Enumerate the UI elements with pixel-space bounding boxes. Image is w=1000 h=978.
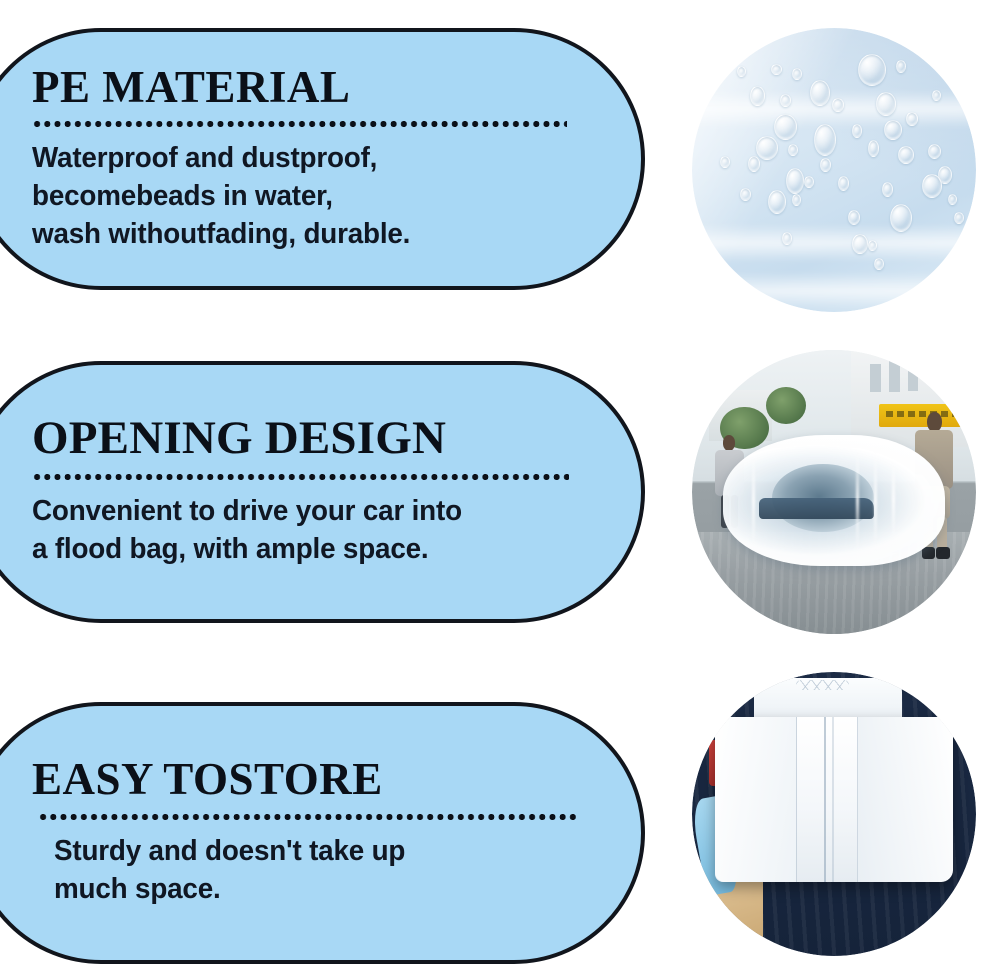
body-line: Convenient to drive your car into [32, 493, 540, 531]
body-line: a flood bag, with ample space. [32, 531, 540, 569]
fabric-surface [692, 28, 976, 312]
infographic-stage: PE MATERIAL Waterproof and dustproof, be… [0, 0, 1000, 978]
page-title: OPENING DESIGN [32, 415, 561, 463]
feature-panel-opening-design: OPENING DESIGN Convenient to drive your … [0, 361, 645, 623]
panel-body-text: Sturdy and doesn't take up much space. [54, 833, 512, 908]
panel-body-text: Convenient to drive your car into a floo… [32, 493, 540, 568]
page-title: PE MATERIAL [32, 65, 531, 111]
panel-content: EASY TOSTORE Sturdy and doesn't take up … [32, 706, 601, 960]
body-line: wash withoutfading, durable. [32, 216, 511, 254]
flood-bag [723, 435, 945, 566]
dotted-divider [32, 474, 569, 480]
dotted-divider [32, 121, 567, 127]
panel-content: OPENING DESIGN Convenient to drive your … [32, 365, 601, 619]
feature-panel-pe-material: PE MATERIAL Waterproof and dustproof, be… [0, 28, 645, 290]
body-line: becomebeads in water, [32, 178, 511, 216]
body-line: Waterproof and dustproof, [32, 140, 511, 178]
feature-panel-easy-to-store: EASY TOSTORE Sturdy and doesn't take up … [0, 702, 645, 964]
dotted-divider [38, 814, 578, 820]
body-line: Sturdy and doesn't take up [54, 833, 512, 871]
people-opening-flood-bag-photo [692, 350, 976, 634]
car-trunk-scene [692, 672, 976, 956]
panel-content: PE MATERIAL Waterproof and dustproof, be… [32, 32, 601, 286]
folded-bag-in-trunk-photo [692, 672, 976, 956]
folded-flood-bag [715, 717, 954, 882]
water-beads-on-fabric-photo [692, 28, 976, 312]
outdoor-scene [692, 350, 976, 634]
panel-body-text: Waterproof and dustproof, becomebeads in… [32, 140, 511, 253]
page-title: EASY TOSTORE [32, 757, 531, 803]
body-line: much space. [54, 871, 512, 909]
